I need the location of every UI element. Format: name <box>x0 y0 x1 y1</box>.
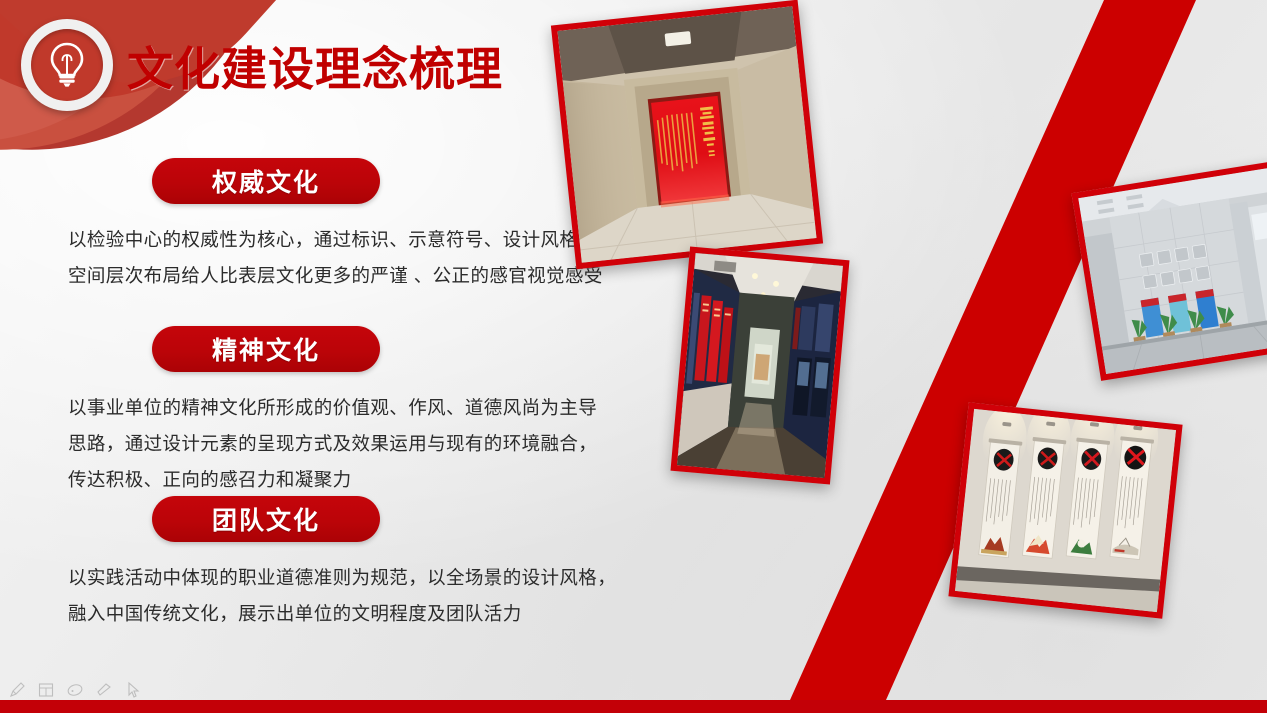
page-title: 文化建设理念梳理 <box>127 33 503 99</box>
section-pill-1[interactable]: 权威文化 <box>152 158 380 204</box>
section-pill-3[interactable]: 团队文化 <box>152 496 380 542</box>
marker-icon[interactable] <box>37 681 55 699</box>
presentation-slide: 文化建设理念梳理 权威文化 以检验中心的权威性为核心，通过标识、示意符号、设计风… <box>0 0 1267 713</box>
section-authority-culture: 权威文化 以检验中心的权威性为核心，通过标识、示意符号、设计风格、 空间层次布局… <box>0 158 640 294</box>
eraser-icon[interactable] <box>66 681 84 699</box>
section-pill-label-2: 精神文化 <box>212 331 320 367</box>
section-body-2: 以事业单位的精神文化所形成的价值观、作风、道德风尚为主导 思路，通过设计元素的呈… <box>0 390 640 498</box>
section-body-1: 以检验中心的权威性为核心，通过标识、示意符号、设计风格、 空间层次布局给人比表层… <box>0 222 640 294</box>
body-line: 以事业单位的精神文化所形成的价值观、作风、道德风尚为主导 <box>68 390 632 426</box>
body-line: 以实践活动中体现的职业道德准则为规范，以全场景的设计风格， <box>68 560 632 596</box>
body-line: 以检验中心的权威性为核心，通过标识、示意符号、设计风格、 <box>68 222 632 258</box>
photo-scroll-banner-wall[interactable] <box>948 402 1182 618</box>
body-line: 空间层次布局给人比表层文化更多的严谨 、公正的感官视觉感受 <box>68 258 632 294</box>
title-badge <box>21 19 113 111</box>
photo-dark-corridor-display-panels[interactable] <box>670 246 849 484</box>
photo-lobby-engraved-wall[interactable] <box>1071 161 1267 381</box>
body-line: 融入中国传统文化，展示出单位的文明程度及团队活力 <box>68 596 632 632</box>
body-line: 思路，通过设计元素的呈现方式及效果运用与现有的环境融合， <box>68 426 632 462</box>
bottom-accent-bar <box>0 700 1267 713</box>
section-spirit-culture: 精神文化 以事业单位的精神文化所形成的价值观、作风、道德风尚为主导 思路，通过设… <box>0 326 640 498</box>
photo-corridor-red-calligraphy-wall[interactable] <box>551 0 823 269</box>
pointer-icon[interactable] <box>124 681 142 699</box>
pen-icon[interactable] <box>8 681 26 699</box>
badge-inner-circle <box>31 29 103 101</box>
section-pill-label-3: 团队文化 <box>212 501 320 537</box>
lightbulb-icon <box>47 42 87 88</box>
section-pill-label-1: 权威文化 <box>212 163 320 199</box>
section-team-culture: 团队文化 以实践活动中体现的职业道德准则为规范，以全场景的设计风格， 融入中国传… <box>0 496 640 632</box>
body-line: 传达积极、正向的感召力和凝聚力 <box>68 462 632 498</box>
presentation-ink-toolbar[interactable] <box>8 681 142 699</box>
highlighter-icon[interactable] <box>95 681 113 699</box>
section-body-3: 以实践活动中体现的职业道德准则为规范，以全场景的设计风格， 融入中国传统文化，展… <box>0 560 640 632</box>
section-pill-2[interactable]: 精神文化 <box>152 326 380 372</box>
